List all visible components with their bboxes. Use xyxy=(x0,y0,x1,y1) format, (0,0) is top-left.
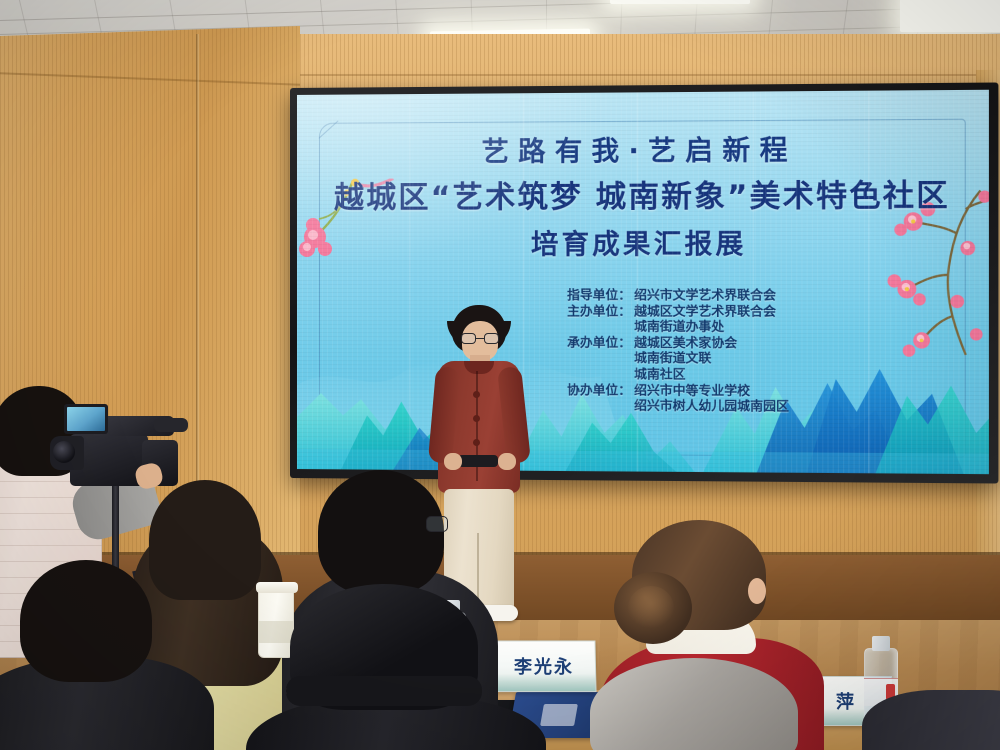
credit-value: 绍兴市树人幼儿园城南园区 xyxy=(631,398,767,415)
nameplate-text: 萍 xyxy=(836,688,856,714)
presenter-button xyxy=(473,391,480,398)
credit-row: 城南街道文联 xyxy=(553,350,767,366)
credit-row: 协办单位：绍兴市中等专业学校 xyxy=(553,382,767,399)
audience-member xyxy=(268,584,528,750)
camera-microphone xyxy=(154,418,188,432)
audience-head xyxy=(318,470,444,594)
credit-row: 承办单位：越城区美术家协会 xyxy=(553,334,767,350)
credit-value: 城南街道办事处 xyxy=(631,319,767,335)
camera-lcd-screen xyxy=(64,404,108,434)
presenter-button xyxy=(473,439,480,446)
led-display-screen: 艺路有我·艺启新程 越城区“艺术筑梦 城南新象”美术特色社区 培育成果汇报展 指… xyxy=(297,90,989,474)
credit-label: 指导单位： xyxy=(553,287,631,303)
credit-row: 指导单位：绍兴市文学艺术界联合会 xyxy=(553,287,767,303)
led-display-bezel: 艺路有我·艺启新程 越城区“艺术筑梦 城南新象”美术特色社区 培育成果汇报展 指… xyxy=(290,82,998,483)
slide-title-line-1: 艺路有我·艺启新程 xyxy=(297,127,989,170)
slide-credits: 指导单位：绍兴市文学艺术界联合会主办单位：越城区文学艺术界联合会城南街道办事处承… xyxy=(553,287,767,414)
audience-member xyxy=(590,658,810,750)
audience-ear xyxy=(748,578,766,604)
credit-label xyxy=(553,350,631,366)
camera-lens xyxy=(53,441,75,463)
credit-value: 城南街道文联 xyxy=(631,350,767,366)
slide-title-line-3: 培育成果汇报展 xyxy=(297,221,989,262)
credit-label xyxy=(553,366,631,382)
glasses-icon xyxy=(461,333,499,344)
beanie-brim xyxy=(286,676,482,706)
credit-value: 越城区文学艺术界联合会 xyxy=(631,303,767,319)
presenter-hand-left xyxy=(444,453,462,470)
conference-room-photo: 艺路有我·艺启新程 越城区“艺术筑梦 城南新象”美术特色社区 培育成果汇报展 指… xyxy=(0,0,1000,750)
credit-value: 绍兴市文学艺术界联合会 xyxy=(631,287,767,303)
credit-row: 城南街道办事处 xyxy=(553,319,767,335)
credit-row: 城南社区 xyxy=(553,366,767,383)
credit-label xyxy=(553,319,631,335)
audience-hair-bun xyxy=(614,572,692,644)
slide-title-line-2: 越城区“艺术筑梦 城南新象”美术特色社区 xyxy=(297,170,989,217)
slide-text-block: 艺路有我·艺启新程 越城区“艺术筑梦 城南新象”美术特色社区 培育成果汇报展 xyxy=(297,90,989,474)
credit-label: 协办单位： xyxy=(553,382,631,398)
audience-hair-gray xyxy=(590,658,798,750)
ceiling-light xyxy=(610,0,750,4)
glasses-icon xyxy=(426,516,448,532)
credit-row: 绍兴市树人幼儿园城南园区 xyxy=(553,397,767,414)
audience-member xyxy=(862,690,1000,750)
audience-member xyxy=(0,560,210,750)
ceiling-light xyxy=(900,0,1000,32)
presenter-hand-right xyxy=(498,453,516,470)
credit-value: 城南社区 xyxy=(631,366,767,382)
credit-row: 主办单位：越城区文学艺术界联合会 xyxy=(553,303,767,319)
presentation-clicker xyxy=(458,455,498,467)
credit-label: 主办单位： xyxy=(553,303,631,319)
credit-value: 越城区美术家协会 xyxy=(631,334,767,350)
audience-head xyxy=(20,560,152,682)
credit-value: 绍兴市中等专业学校 xyxy=(631,382,767,398)
presenter-button xyxy=(473,415,480,422)
audience-torso xyxy=(862,690,1000,750)
credit-label: 承办单位： xyxy=(553,334,631,350)
credit-label xyxy=(553,397,631,413)
